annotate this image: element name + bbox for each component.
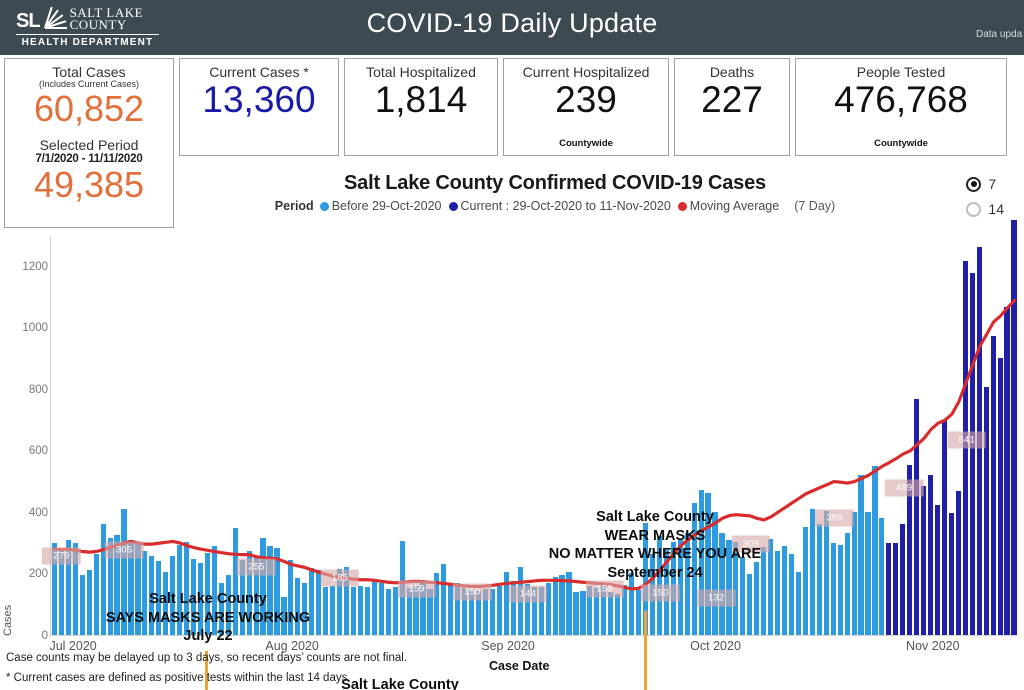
bar[interactable] bbox=[629, 573, 634, 635]
annotation-line: Salt Lake County bbox=[520, 508, 790, 527]
bar[interactable] bbox=[928, 475, 933, 635]
legend-label-current: Current : 29-Oct-2020 to 11-Nov-2020 bbox=[461, 199, 671, 213]
data-label: 389 bbox=[815, 509, 853, 526]
bar[interactable] bbox=[838, 545, 843, 635]
bar[interactable] bbox=[831, 543, 836, 635]
bar[interactable] bbox=[879, 518, 884, 635]
kpi-current-cases-value: 13,360 bbox=[184, 81, 334, 120]
bar[interactable] bbox=[810, 509, 815, 635]
annotation-line: Salt Lake County bbox=[78, 590, 338, 609]
footnote-current-cases: * Current cases are defined as positive … bbox=[6, 672, 347, 684]
y-tick-1000: 1000 bbox=[4, 322, 48, 334]
data-label: 159 bbox=[397, 581, 435, 598]
data-label: 255 bbox=[237, 558, 275, 575]
bar[interactable] bbox=[803, 527, 808, 635]
kpi-people-tested-label: People Tested bbox=[800, 64, 1002, 80]
x-tick-sep-2020: Sep 2020 bbox=[481, 639, 535, 653]
footnote-delay: Case counts may be delayed up to 3 days,… bbox=[6, 652, 407, 664]
bar[interactable] bbox=[991, 336, 996, 635]
kpi-people-tested-value: 476,768 bbox=[800, 81, 1002, 120]
kpi-total-hospitalized-label: Total Hospitalized bbox=[349, 64, 493, 80]
bar[interactable] bbox=[1011, 220, 1016, 635]
data-label: 150 bbox=[453, 584, 491, 601]
bar[interactable] bbox=[886, 543, 891, 635]
legend-period-label: Period bbox=[275, 199, 314, 213]
chart-annotation: Salt Lake CountySAYS MASKS ARE WORKINGJu… bbox=[78, 590, 338, 646]
chart-header: Salt Lake County Confirmed COVID-19 Case… bbox=[180, 172, 930, 213]
kpi-card-people-tested[interactable]: People Tested 476,768 Countywide bbox=[795, 58, 1007, 156]
x-tick-nov-2020: Nov 2020 bbox=[906, 639, 960, 653]
data-label: 159 bbox=[585, 581, 623, 598]
kpi-total-cases-label: Total Cases bbox=[9, 64, 169, 80]
bar[interactable] bbox=[872, 466, 877, 635]
kpi-people-tested-foot: Countywide bbox=[800, 138, 1002, 149]
bar[interactable] bbox=[921, 486, 926, 635]
bar[interactable] bbox=[747, 574, 752, 635]
radio-14-icon[interactable] bbox=[966, 202, 981, 217]
bar[interactable] bbox=[852, 512, 857, 635]
bar[interactable] bbox=[956, 491, 961, 635]
data-label: 132 bbox=[697, 590, 735, 607]
legend-window-label: (7 Day) bbox=[794, 199, 835, 213]
bar[interactable] bbox=[796, 572, 801, 635]
data-updated-text: Data upda bbox=[976, 29, 1024, 40]
data-label: 279 bbox=[42, 548, 80, 565]
bar[interactable] bbox=[893, 543, 898, 635]
kpi-selected-period-value: 49,385 bbox=[9, 166, 169, 204]
bar[interactable] bbox=[504, 572, 509, 635]
bar[interactable] bbox=[1004, 307, 1009, 635]
legend-label-moving-average: Moving Average bbox=[690, 199, 779, 213]
data-label: 489 bbox=[885, 480, 923, 497]
kpi-card-current-cases[interactable]: Current Cases * 13,360 bbox=[179, 58, 339, 156]
chart-legend: Period Before 29-Oct-2020 Current : 29-O… bbox=[180, 199, 930, 213]
chart-plot-area: Cases 020040060080010001200 279305255185… bbox=[0, 236, 1024, 636]
bar[interactable] bbox=[358, 586, 363, 635]
bar[interactable] bbox=[998, 358, 1003, 635]
data-label: 144 bbox=[509, 585, 547, 602]
kpi-deaths-value: 227 bbox=[679, 81, 785, 120]
data-label: 641 bbox=[948, 432, 986, 449]
y-tick-400: 400 bbox=[4, 507, 48, 519]
legend-dot-current-icon bbox=[449, 202, 458, 211]
radio-option-7[interactable]: 7 bbox=[966, 176, 1004, 192]
bar[interactable] bbox=[935, 505, 940, 635]
annotation-line: WEAR MASKS bbox=[520, 527, 790, 546]
bar[interactable] bbox=[900, 524, 905, 635]
y-tick-0: 0 bbox=[4, 630, 48, 642]
bar[interactable] bbox=[970, 273, 975, 635]
kpi-current-hospitalized-label: Current Hospitalized bbox=[508, 64, 664, 80]
bar[interactable] bbox=[553, 577, 558, 635]
bar[interactable] bbox=[559, 575, 564, 635]
data-label: 185 bbox=[321, 569, 359, 586]
x-axis-title: Case Date bbox=[489, 659, 549, 673]
legend-dot-before-icon bbox=[320, 202, 329, 211]
kpi-selected-period-label: Selected Period bbox=[9, 137, 169, 153]
annotation-line: NO MATTER WHERE YOU ARE bbox=[520, 545, 790, 564]
radio-14-label: 14 bbox=[988, 201, 1004, 217]
bar[interactable] bbox=[817, 524, 822, 635]
x-tick-jul-2020: Jul 2020 bbox=[49, 639, 96, 653]
kpi-current-cases-label: Current Cases * bbox=[184, 64, 334, 80]
y-tick-1200: 1200 bbox=[4, 261, 48, 273]
bar[interactable] bbox=[858, 475, 863, 635]
app-header: SL SALT LAKE COUNTY HEALTH DEPARTMENT CO… bbox=[0, 0, 1024, 55]
legend-item-current[interactable]: Current : 29-Oct-2020 to 11-Nov-2020 bbox=[449, 199, 671, 213]
bar[interactable] bbox=[914, 399, 919, 635]
bar[interactable] bbox=[949, 513, 954, 635]
chart-title: Salt Lake County Confirmed COVID-19 Case… bbox=[180, 172, 930, 195]
data-label: 305 bbox=[105, 541, 143, 558]
moving-average-window-selector[interactable]: 7 14 bbox=[966, 176, 1004, 226]
bar[interactable] bbox=[984, 387, 989, 635]
y-tick-800: 800 bbox=[4, 384, 48, 396]
x-tick-oct-2020: Oct 2020 bbox=[690, 639, 741, 653]
kpi-card-total-hospitalized[interactable]: Total Hospitalized 1,814 bbox=[344, 58, 498, 156]
bar[interactable] bbox=[351, 587, 356, 635]
bar[interactable] bbox=[386, 589, 391, 635]
kpi-current-hospitalized-foot: Countywide bbox=[508, 138, 664, 149]
bar[interactable] bbox=[845, 533, 850, 635]
legend-item-before[interactable]: Before 29-Oct-2020 bbox=[320, 199, 442, 213]
bar[interactable] bbox=[372, 581, 377, 635]
annotation-line: SAYS MASKS ARE WORKING bbox=[78, 609, 338, 628]
data-label: 150 bbox=[641, 584, 679, 601]
annotation-line: September 24 bbox=[520, 564, 790, 583]
bar[interactable] bbox=[497, 586, 502, 635]
y-axis-ticks: 020040060080010001200 bbox=[0, 236, 48, 636]
page-title: COVID-19 Daily Update bbox=[0, 8, 1024, 39]
kpi-deaths-label: Deaths bbox=[679, 64, 785, 80]
legend-dot-moving-average-icon bbox=[678, 202, 687, 211]
chart-annotation: Salt Lake CountyWEAR MASKSNO MATTER WHER… bbox=[520, 508, 790, 582]
bar[interactable] bbox=[824, 511, 829, 635]
bar[interactable] bbox=[580, 591, 585, 635]
radio-7-label: 7 bbox=[988, 176, 996, 192]
bar[interactable] bbox=[942, 420, 947, 635]
bar[interactable] bbox=[379, 583, 384, 635]
legend-label-before: Before 29-Oct-2020 bbox=[332, 199, 442, 213]
bar[interactable] bbox=[615, 594, 620, 635]
bar[interactable] bbox=[608, 592, 613, 635]
radio-option-14[interactable]: 14 bbox=[966, 201, 1004, 217]
y-tick-200: 200 bbox=[4, 568, 48, 580]
annotation-arrow-icon bbox=[640, 611, 650, 690]
kpi-card-total-cases[interactable]: Total Cases (Includes Current Cases) 60,… bbox=[4, 58, 174, 228]
bar[interactable] bbox=[573, 592, 578, 635]
x-tick-aug-2020: Aug 2020 bbox=[265, 639, 319, 653]
bar[interactable] bbox=[865, 512, 870, 635]
legend-item-moving-average[interactable]: Moving Average bbox=[678, 199, 779, 213]
kpi-total-cases-value: 60,852 bbox=[9, 90, 169, 128]
y-tick-600: 600 bbox=[4, 445, 48, 457]
kpi-current-hospitalized-value: 239 bbox=[508, 81, 664, 120]
kpi-card-deaths[interactable]: Deaths 227 bbox=[674, 58, 790, 156]
kpi-card-current-hospitalized[interactable]: Current Hospitalized 239 Countywide bbox=[503, 58, 669, 156]
kpi-total-hospitalized-value: 1,814 bbox=[349, 81, 493, 120]
bar[interactable] bbox=[441, 564, 446, 635]
radio-7-icon[interactable] bbox=[966, 177, 981, 192]
bar[interactable] bbox=[365, 587, 370, 635]
